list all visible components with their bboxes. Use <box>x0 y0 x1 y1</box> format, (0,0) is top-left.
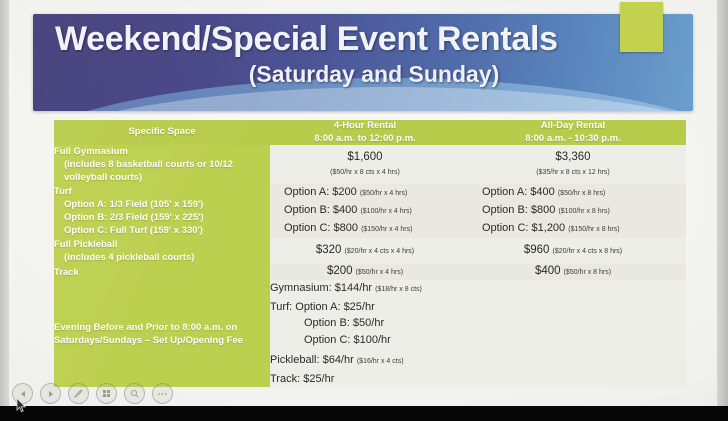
banner-text-wrapper: Weekend/Special Event Rentals (Saturday … <box>33 14 693 88</box>
turf-four-hour-option-b: Option B: $400 ($100/hr x 4 hrs) <box>270 202 460 220</box>
setup-fee-pickleball-note: ($16/hr x 4 cts) <box>357 358 404 365</box>
track-four-hour-note: ($50/hr x 4 hrs) <box>356 269 403 276</box>
track-all-day-note: ($50/hr x 8 hrs) <box>564 269 611 276</box>
pen-icon[interactable] <box>68 383 89 404</box>
setup-fee-turf-c: Option C: $100/hr <box>270 332 686 349</box>
setup-fee-pickleball: Pickleball: $64/hr ($16/hr x 4 cts) <box>270 352 686 371</box>
setup-fee-line-2: Saturdays/Sundays – <box>54 335 150 346</box>
turf-four-hour-c-amount: Option C: $800 <box>284 222 358 234</box>
turf-all-day-c-amount: Option C: $1,200 <box>482 222 565 234</box>
pickleball-four-hour-amount: $320 <box>316 244 342 256</box>
header-all-day-rental: All-Day Rental 8:00 a.m. - 10:30 p.m. <box>460 120 686 145</box>
gymnasium-all-day-note: ($35/hr x 8 cts x 12 hrs) <box>460 165 686 180</box>
slideshow-control-bar[interactable] <box>12 383 173 404</box>
pickleball-all-day-price: $960 ($20/hr x 4 cts x 8 hrs) <box>460 238 686 264</box>
row-label-pickleball: Full Pickleball (includes 4 pickleball c… <box>54 238 270 264</box>
more-options-icon[interactable] <box>152 383 173 404</box>
gymnasium-detail-2: volleyball courts) <box>54 171 270 184</box>
row-label-turf: Turf Option A: 1/3 Field (105' x 159') O… <box>54 184 270 238</box>
next-slide-icon[interactable] <box>40 383 61 404</box>
slide-title-banner: Weekend/Special Event Rentals (Saturday … <box>33 14 693 111</box>
header-all-day-title: All-Day Rental <box>460 120 686 133</box>
pickleball-name: Full Pickleball <box>54 239 117 250</box>
rental-rates-table: Specific Space 4-Hour Rental 8:00 a.m. t… <box>54 120 686 387</box>
turf-four-hour-option-c: Option C: $800 ($150/hr x 4 hrs) <box>270 220 460 238</box>
turf-four-hour-option-a: Option A: $200 ($50/hr x 4 hrs) <box>270 184 460 202</box>
turf-all-day-price: Option A: $400 ($50/hr x 8 hrs) Option B… <box>460 184 686 238</box>
turf-all-day-b-amount: Option B: $800 <box>482 204 555 216</box>
turf-all-day-c-note: ($150/hr x 8 hrs) <box>568 226 619 233</box>
setup-fee-gymnasium-note: ($18/hr x 8 cts) <box>375 286 422 293</box>
zoom-in-icon[interactable] <box>124 383 145 404</box>
header-all-day-times: 8:00 a.m. - 10:30 p.m. <box>460 133 686 146</box>
header-specific-space: Specific Space <box>54 120 270 145</box>
table-row-pickleball: Full Pickleball (includes 4 pickleball c… <box>54 238 686 264</box>
pickleball-all-day-note: ($20/hr x 4 cts x 8 hrs) <box>553 248 623 255</box>
setup-fee-pickleball-rate: Pickleball: $64/hr <box>270 354 354 366</box>
turf-all-day-b-note: ($100/hr x 8 hrs) <box>558 208 609 215</box>
header-four-hour-rental: 4-Hour Rental 8:00 a.m. to 12:00 p.m. <box>270 120 460 145</box>
table-row-gymnasium: Full Gymnasium (includes 8 basketball co… <box>54 145 686 184</box>
gymnasium-all-day-amount: $3,360 <box>460 150 686 165</box>
turf-option-c-detail: Option C: Full Turf (159' x 330') <box>54 224 270 237</box>
gymnasium-detail-1: (includes 8 basketball courts or 10/12 <box>54 158 270 171</box>
turf-all-day-option-c: Option C: $1,200 ($150/hr x 8 hrs) <box>460 220 686 238</box>
table-header-row: Specific Space 4-Hour Rental 8:00 a.m. t… <box>54 120 686 145</box>
setup-fee-turf-b: Option B: $50/hr <box>270 315 686 332</box>
row-label-track: Track <box>54 264 270 280</box>
header-four-hour-title: 4-Hour Rental <box>270 120 460 133</box>
page-title: Weekend/Special Event Rentals <box>33 18 693 60</box>
turf-four-hour-b-amount: Option B: $400 <box>284 204 357 216</box>
gymnasium-all-day-price: $3,360 ($35/hr x 8 cts x 12 hrs) <box>460 145 686 184</box>
table-row-turf: Turf Option A: 1/3 Field (105' x 159') O… <box>54 184 686 238</box>
turf-four-hour-price: Option A: $200 ($50/hr x 4 hrs) Option B… <box>270 184 460 238</box>
gymnasium-four-hour-amount: $1,600 <box>270 150 460 165</box>
pickleball-four-hour-price: $320 ($20/hr x 4 cts x 4 hrs) <box>270 238 460 264</box>
setup-fee-turf-a: Turf: Option A: $25/hr <box>270 299 686 316</box>
photo-bottom-border <box>0 406 728 421</box>
screen-right-edge <box>717 0 728 410</box>
gymnasium-four-hour-note: ($50/hr x 8 cts x 4 hrs) <box>270 165 460 180</box>
screen-left-edge <box>0 0 9 410</box>
pickleball-four-hour-note: ($20/hr x 4 cts x 4 hrs) <box>345 248 415 255</box>
turf-all-day-a-note: ($50/hr x 8 hrs) <box>558 190 605 197</box>
turf-four-hour-a-note: ($50/hr x 4 hrs) <box>360 190 407 197</box>
track-four-hour-amount: $200 <box>327 265 353 277</box>
presentation-slide-photo: Weekend/Special Event Rentals (Saturday … <box>0 0 728 421</box>
track-all-day-amount: $400 <box>535 265 561 277</box>
pickleball-detail: (includes 4 pickleball courts) <box>54 251 270 264</box>
turf-all-day-option-b: Option B: $800 ($100/hr x 8 hrs) <box>460 202 686 220</box>
setup-fee-gymnasium: Gymnasium: $144/hr ($18/hr x 8 cts) <box>270 280 686 299</box>
page-subtitle: (Saturday and Sunday) <box>33 60 693 88</box>
banner-swoosh-highlight <box>33 87 693 111</box>
track-name: Track <box>54 267 79 278</box>
setup-fee-track: Track: $25/hr <box>270 371 686 388</box>
turf-option-b-detail: Option B: 2/3 Field (159' x 225') <box>54 211 270 224</box>
track-all-day-price: $400 ($50/hr x 8 hrs) <box>460 264 686 280</box>
track-four-hour-price: $200 ($50/hr x 4 hrs) <box>270 264 460 280</box>
turf-four-hour-c-note: ($150/hr x 4 hrs) <box>361 226 412 233</box>
header-four-hour-times: 8:00 a.m. to 12:00 p.m. <box>270 133 460 146</box>
header-specific-space-label: Specific Space <box>54 126 270 139</box>
setup-fee-line-3: Set Up/Opening Fee <box>153 335 243 346</box>
turf-all-day-a-amount: Option A: $400 <box>482 186 555 198</box>
turf-name: Turf <box>54 186 72 197</box>
pickleball-all-day-amount: $960 <box>524 244 550 256</box>
row-label-gymnasium: Full Gymnasium (includes 8 basketball co… <box>54 145 270 184</box>
turf-all-day-option-a: Option A: $400 ($50/hr x 8 hrs) <box>460 184 686 202</box>
gymnasium-four-hour-price: $1,600 ($50/hr x 8 cts x 4 hrs) <box>270 145 460 184</box>
all-slides-grid-icon[interactable] <box>96 383 117 404</box>
gymnasium-name: Full Gymnasium <box>54 146 128 157</box>
table-row-track: Track $200 ($50/hr x 4 hrs) $400 ($50/hr… <box>54 264 686 280</box>
table-row-setup-fee: Evening Before and Prior to 8:00 a.m. on… <box>54 280 686 387</box>
projected-slide-surface: Weekend/Special Event Rentals (Saturday … <box>0 0 728 410</box>
setup-fee-gymnasium-rate: Gymnasium: $144/hr <box>270 282 372 294</box>
turf-four-hour-a-amount: Option A: $200 <box>284 186 357 198</box>
turf-option-a-detail: Option A: 1/3 Field (105' x 159') <box>54 198 270 211</box>
row-label-setup-fee: Evening Before and Prior to 8:00 a.m. on… <box>54 280 270 387</box>
turf-four-hour-b-note: ($100/hr x 4 hrs) <box>360 208 411 215</box>
setup-fee-details: Gymnasium: $144/hr ($18/hr x 8 cts) Turf… <box>270 280 686 387</box>
mouse-cursor-icon <box>16 398 27 413</box>
setup-fee-line-1: Evening Before and Prior to 8:00 a.m. on <box>54 322 237 333</box>
green-accent-square <box>620 2 663 52</box>
